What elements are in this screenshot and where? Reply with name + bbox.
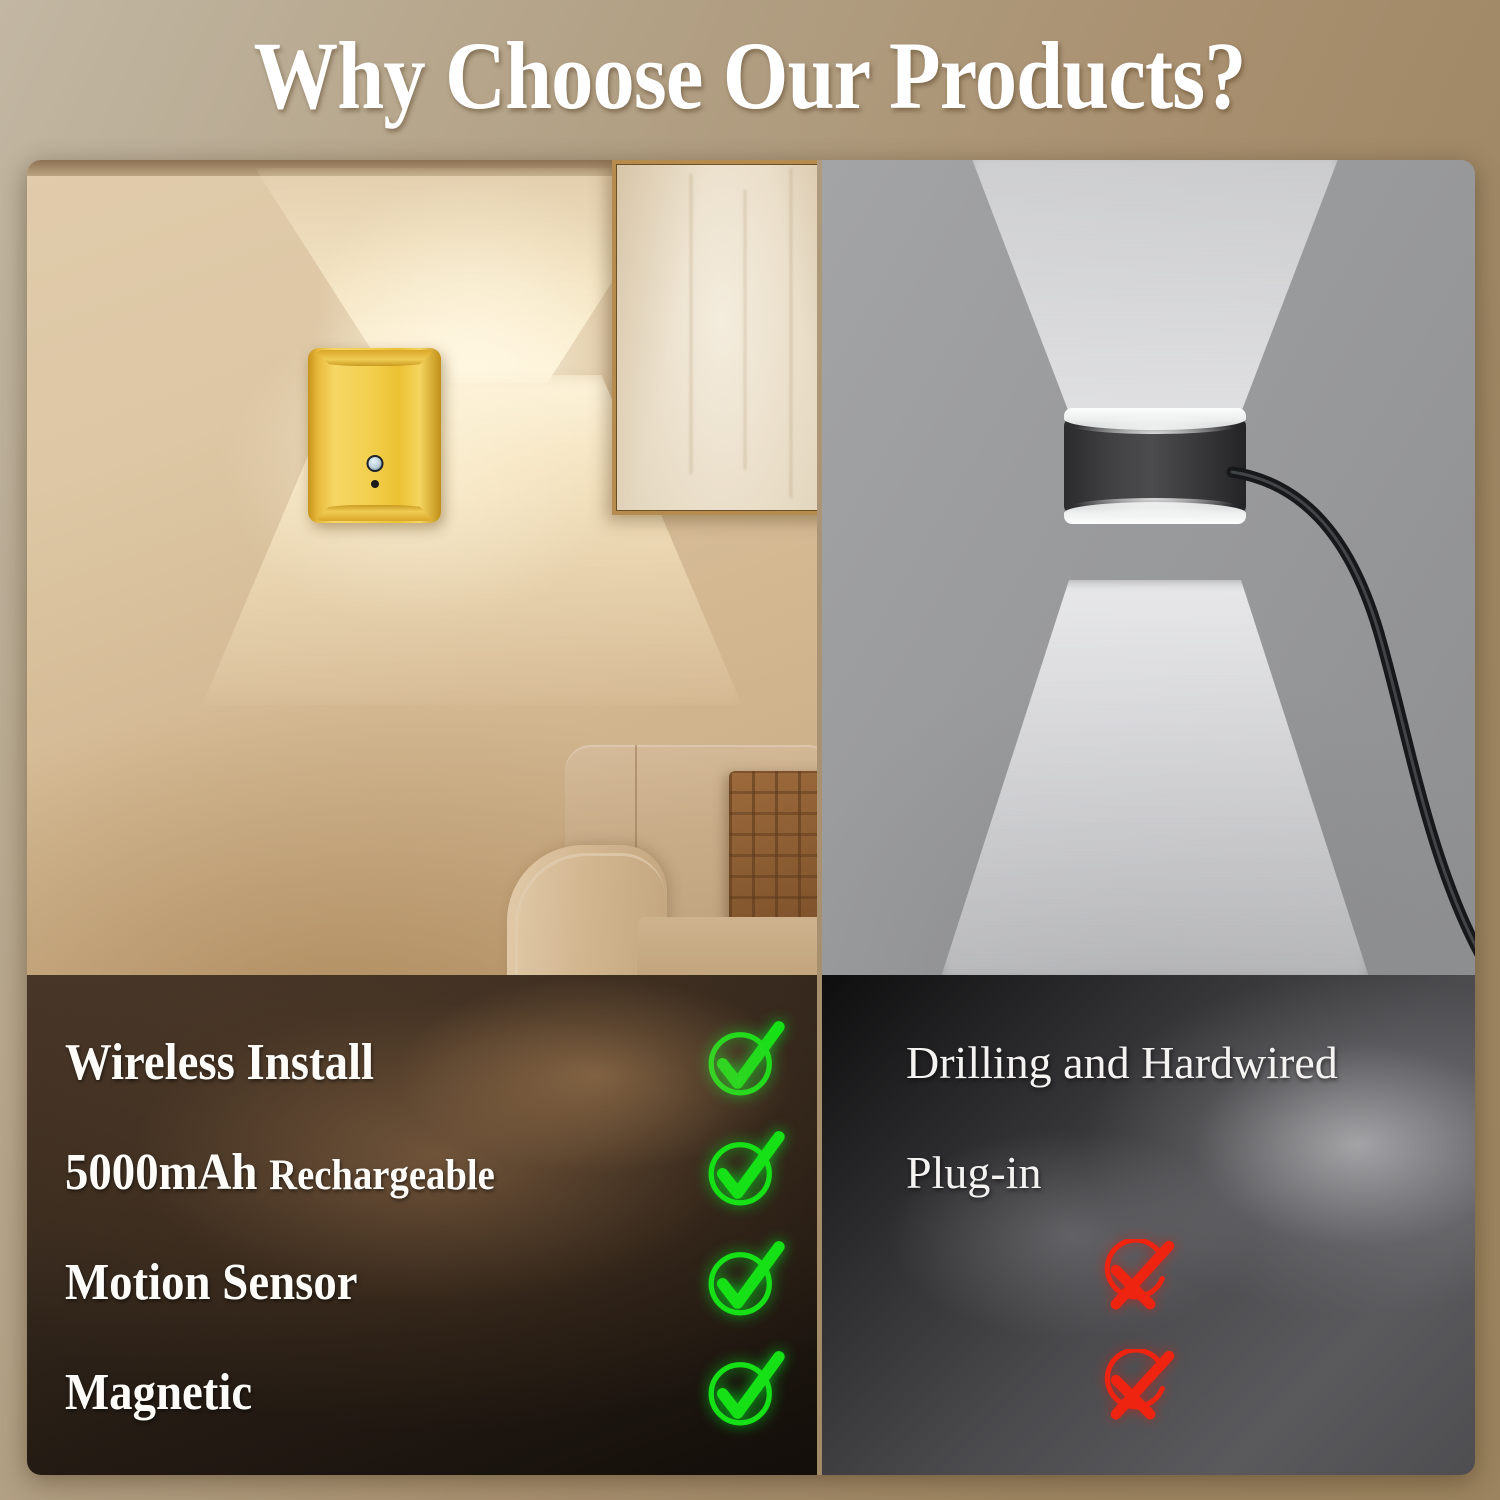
list-item: Magnetic [27,1337,817,1447]
lamp-bottom-cap [314,505,435,521]
check-icon [687,1227,797,1337]
con-column: Drilling and Hardwired Plug-in [822,160,1475,1475]
feature-sublabel: Rechargeable [269,1152,495,1199]
feature-label: Magnetic [65,1363,252,1422]
power-cord-icon [1228,460,1475,975]
comparison-collage: Wireless Install 5000mAh Rechargeable [27,160,1475,1475]
pro-feature-panel: Wireless Install 5000mAh Rechargeable [27,975,817,1475]
list-item: 5000mAh Rechargeable [27,1117,817,1227]
black-wall-lamp [1064,408,1246,524]
feature-label: Wireless Install [65,1033,374,1092]
pro-feature-list: Wireless Install 5000mAh Rechargeable [27,975,817,1475]
list-item: Drilling and Hardwired [822,1007,1475,1117]
drawback-label: Plug-in [906,1146,1041,1199]
list-item: Wireless Install [27,1007,817,1117]
woven-throw-pillow [729,771,817,941]
feature-label: Motion Sensor [65,1253,358,1312]
motion-sensor-icon [366,455,383,472]
lamp-top-highlight [1067,414,1243,434]
drawback-label: Drilling and Hardwired [906,1036,1338,1089]
feature-label: 5000mAh Rechargeable [65,1143,495,1202]
page-header: Why Choose Our Products? [0,0,1500,150]
lamp-body [308,348,441,523]
armchair-seat [637,917,817,975]
pro-column: Wireless Install 5000mAh Rechargeable [27,160,817,1475]
check-icon [687,1337,797,1447]
list-item: Motion Sensor [27,1227,817,1337]
list-item [822,1337,1475,1447]
list-item: Plug-in [822,1117,1475,1227]
art-streak [744,190,746,470]
armchair [507,745,817,975]
list-item [822,1227,1475,1337]
lamp-bottom-highlight [1067,498,1243,518]
con-feature-panel: Drilling and Hardwired Plug-in [822,975,1475,1475]
feature-emphasis: 5000mAh [65,1144,257,1201]
con-product-photo [822,160,1475,975]
check-icon [687,1007,797,1117]
check-icon [687,1117,797,1227]
charging-port-icon [371,480,379,488]
art-streak [690,174,692,474]
cross-icon [1078,1227,1188,1337]
art-canvas [616,164,817,511]
cross-icon [1078,1337,1188,1447]
page-title: Why Choose Our Products? [254,20,1246,131]
art-streak [790,168,792,498]
con-feature-list: Drilling and Hardwired Plug-in [822,975,1475,1475]
pro-product-photo [27,160,817,975]
gold-wall-lamp [308,348,441,523]
framed-wall-art [612,160,817,515]
lamp-top-cap [314,350,435,366]
